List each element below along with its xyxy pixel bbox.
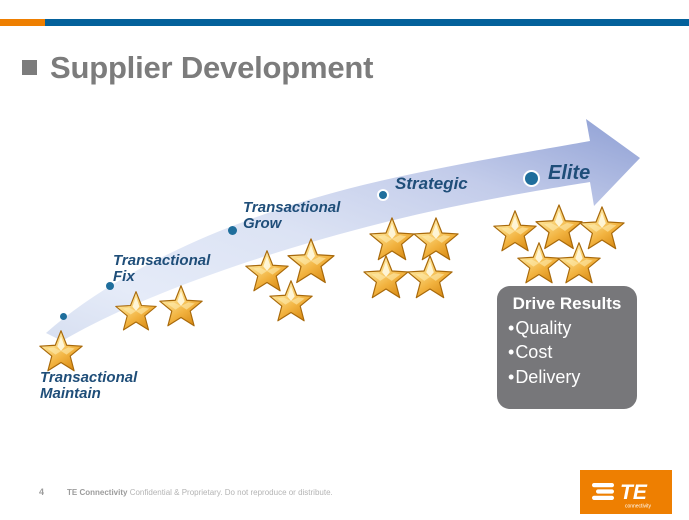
node-dot-maintain — [60, 313, 67, 320]
star-icon — [406, 253, 454, 301]
drive-results-item-quality: •Quality — [497, 316, 637, 341]
star-icon — [556, 240, 602, 286]
star-icon — [268, 278, 314, 324]
drive-results-item-cost: •Cost — [497, 340, 637, 365]
star-cluster-fix — [106, 283, 216, 343]
drive-results-title: Drive Results — [497, 294, 637, 314]
star-icon — [38, 328, 84, 374]
te-logo-mark: TE connectivity — [580, 470, 672, 514]
node-dot-grow — [228, 226, 237, 235]
footer-company: TE Connectivity — [67, 488, 127, 497]
level-label-elite: Elite — [548, 163, 590, 185]
bullet-glyph: • — [508, 342, 514, 362]
level-label-fix: Transactional Fix — [113, 253, 210, 285]
slide-number: 4 — [39, 487, 44, 497]
supplier-development-diagram: Transactional Maintain Transactional Fix… — [0, 0, 689, 520]
level-label-strategic: Strategic — [395, 175, 468, 193]
te-logo-text: TE — [620, 481, 648, 504]
drive-results-item-delivery: •Delivery — [497, 365, 637, 390]
drive-results-box: Drive Results •Quality •Cost •Delivery — [497, 286, 637, 409]
star-cluster-strategic — [362, 215, 482, 305]
star-cluster-grow — [238, 236, 358, 331]
te-connectivity-logo: TE connectivity — [580, 470, 672, 514]
bullet-glyph: • — [508, 367, 514, 387]
level-label-grow: Transactional Grow — [243, 200, 340, 232]
star-icon — [158, 283, 204, 329]
node-dot-strategic — [377, 189, 389, 201]
star-icon — [362, 253, 410, 301]
node-dot-elite — [523, 170, 540, 187]
te-logo-subtext: connectivity — [625, 504, 652, 510]
star-cluster-elite — [492, 202, 637, 292]
star-cluster-maintain — [38, 328, 98, 388]
footer-notice: TE Connectivity Confidential & Proprieta… — [67, 488, 333, 497]
drive-results-item-label: Delivery — [515, 367, 580, 387]
footer-notice-text: Confidential & Proprietary. Do not repro… — [130, 488, 333, 497]
drive-results-item-label: Cost — [515, 342, 552, 362]
bullet-glyph: • — [508, 318, 514, 338]
bottom-rule — [0, 514, 689, 520]
drive-results-item-label: Quality — [515, 318, 571, 338]
star-icon — [114, 289, 158, 333]
